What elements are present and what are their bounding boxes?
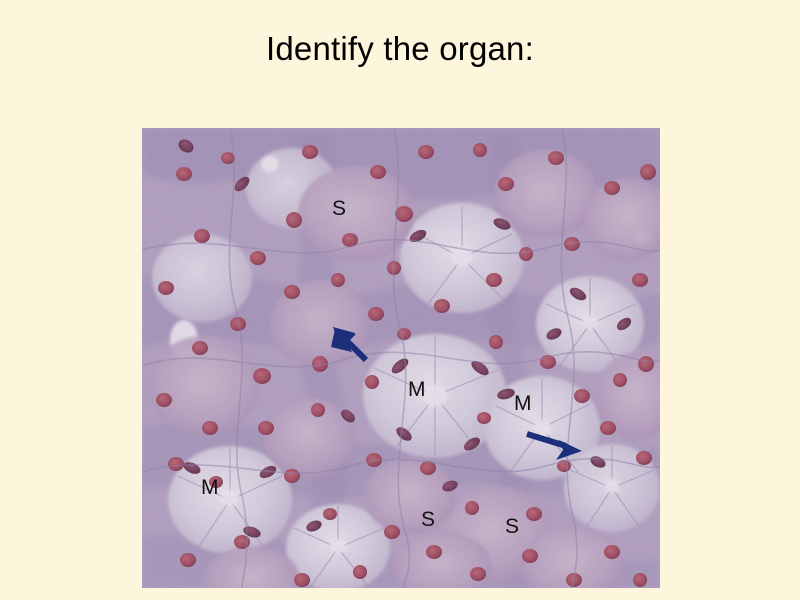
page-title: Identify the organ:: [0, 30, 800, 68]
label-mucous-right: M: [514, 393, 532, 414]
label-serous-top: S: [332, 198, 346, 219]
label-mucous-center: M: [408, 379, 426, 400]
slide-canvas: Identify the organ:: [0, 0, 800, 600]
label-serous-bottom-left: S: [421, 509, 435, 530]
micrograph-canvas: [142, 128, 660, 588]
label-mucous-left: M: [201, 477, 219, 498]
label-serous-bottom-right: S: [505, 516, 519, 537]
micrograph-image: S M M M S S: [142, 128, 660, 588]
